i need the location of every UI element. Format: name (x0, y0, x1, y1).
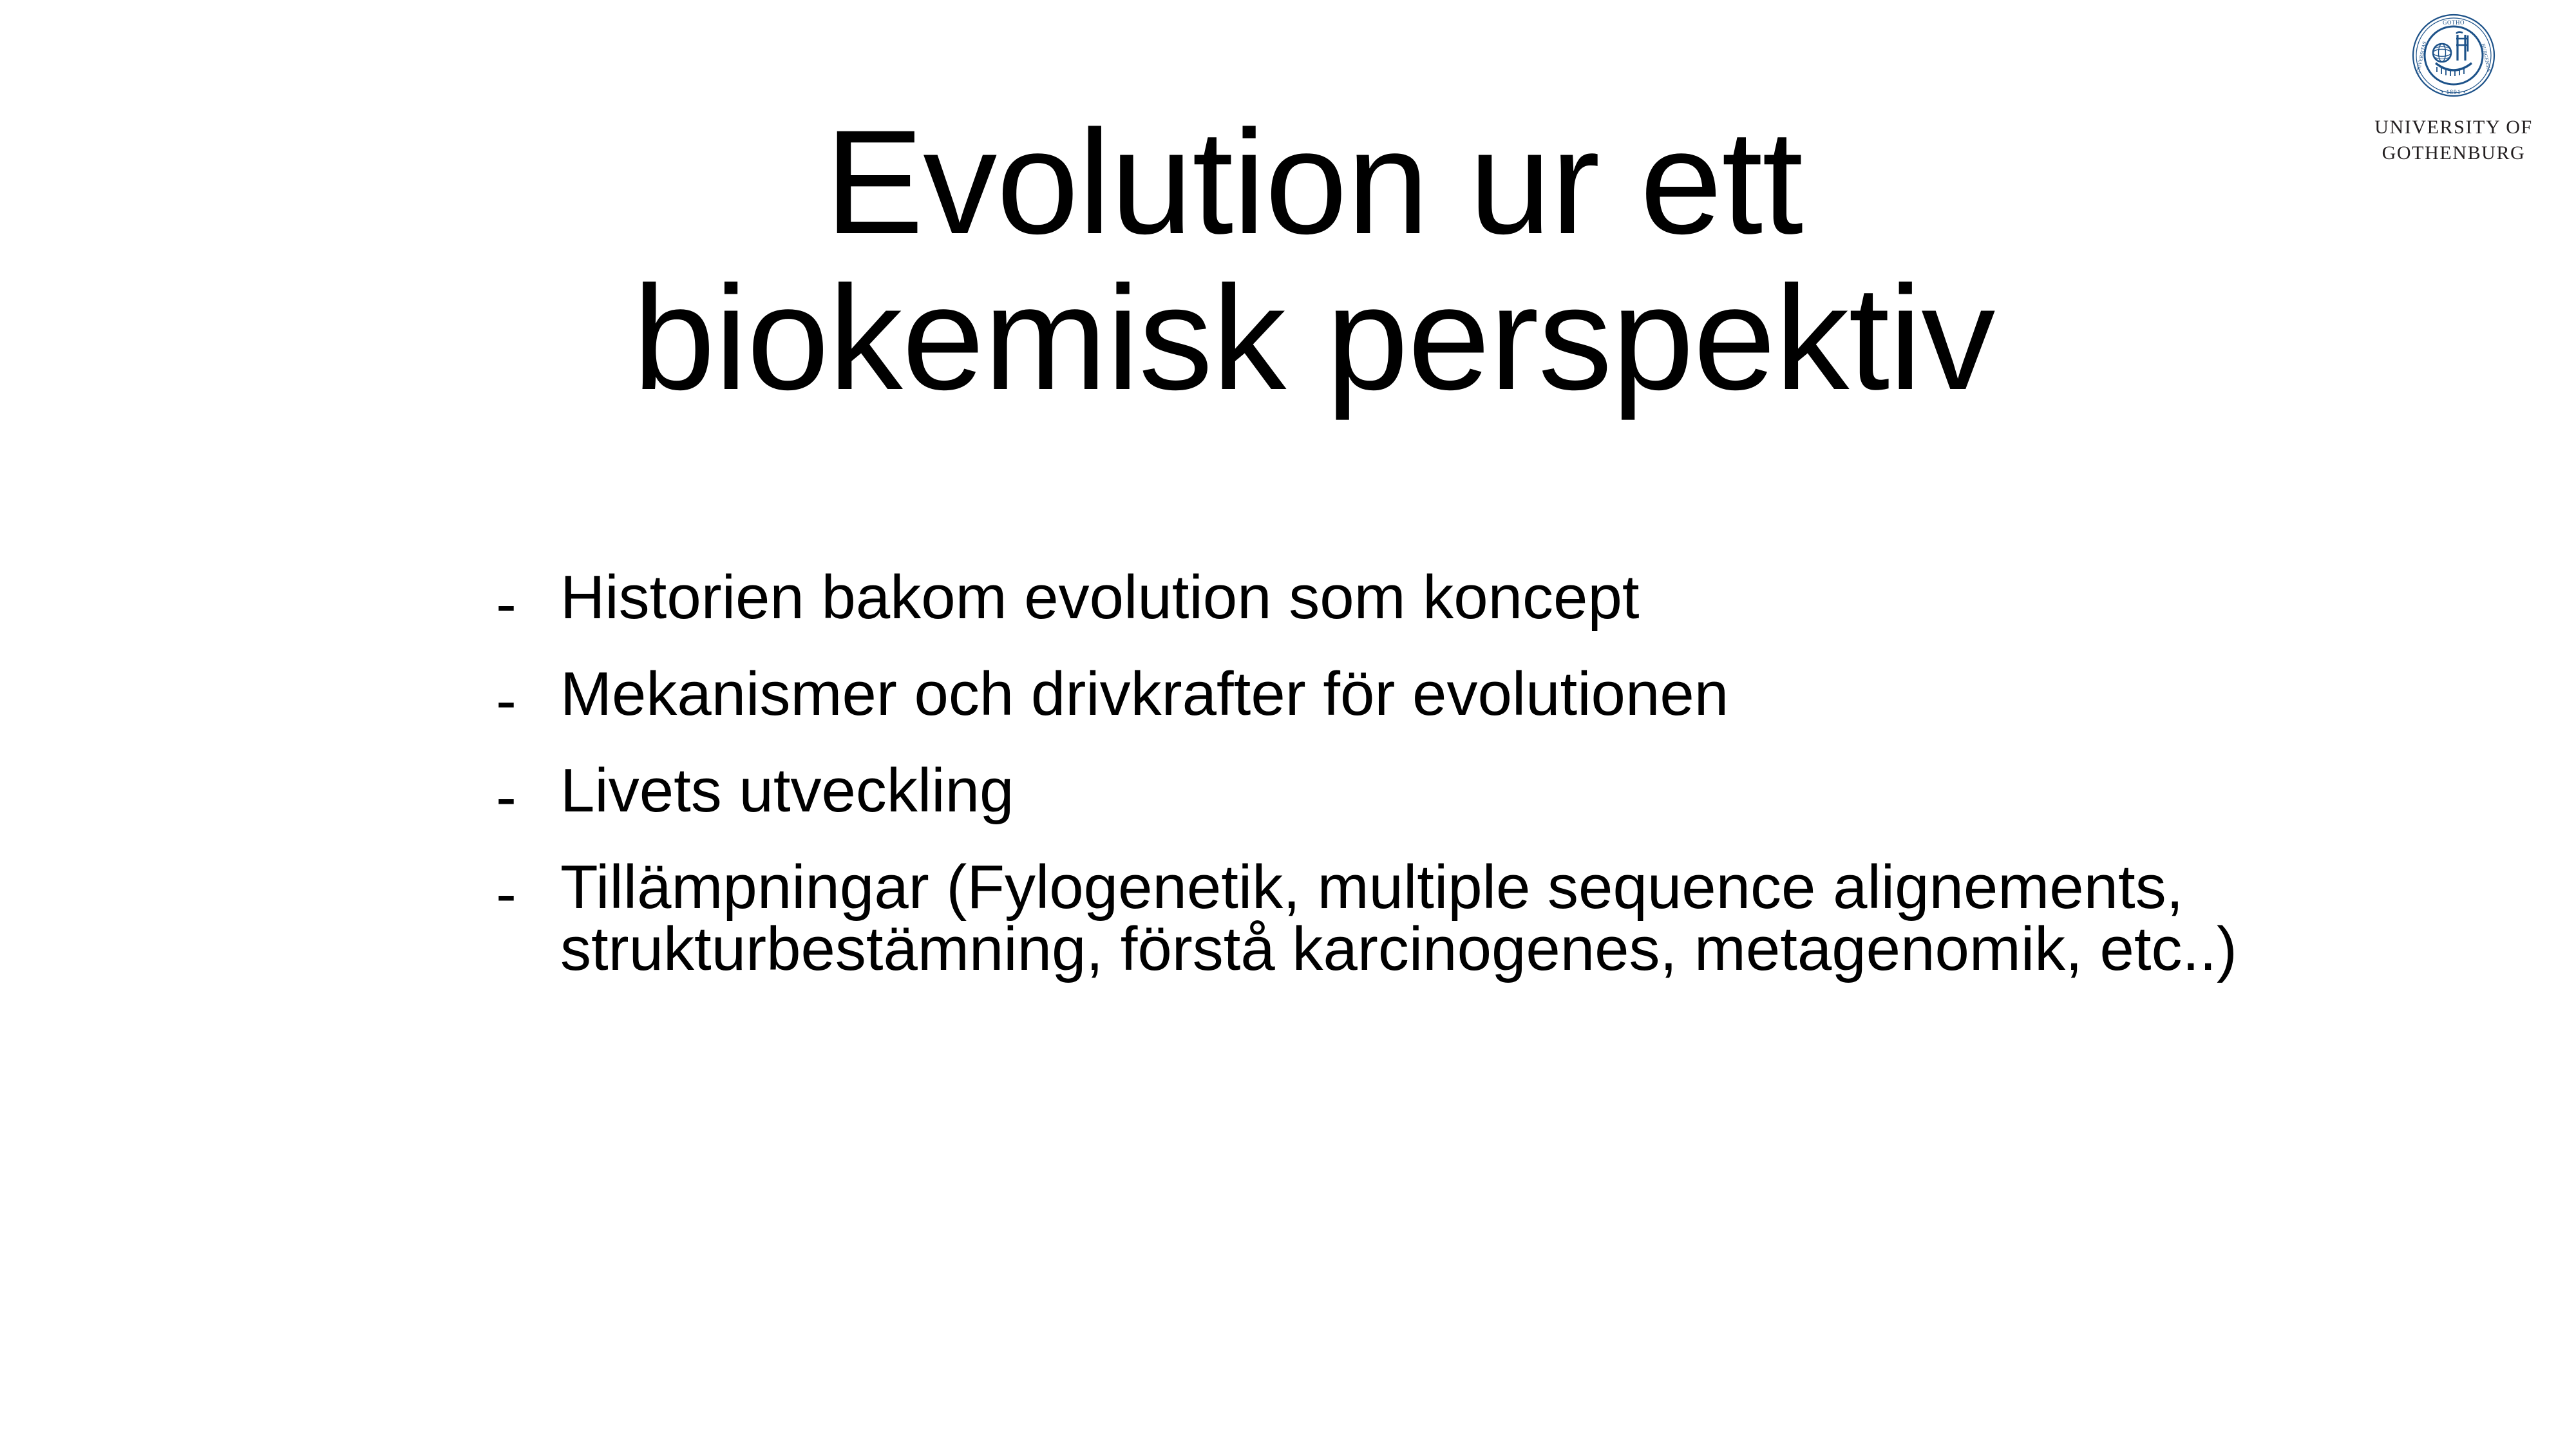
university-of-gothenburg-seal-icon: GOTHO • 1891 • UNIVERSITAS BURGENSIS (2411, 13, 2496, 98)
list-item-label-line-2: strukturbestämning, förstå karcinogenes,… (560, 918, 2363, 980)
svg-text:GOTHO: GOTHO (2443, 19, 2465, 26)
slide-bullet-list: - Historien bakom evolution som koncept … (496, 565, 2363, 980)
list-item-label: Livets utveckling (560, 759, 2363, 822)
list-item: - Mekanismer och drivkrafter för evoluti… (496, 662, 2363, 739)
university-logo: GOTHO • 1891 • UNIVERSITAS BURGENSIS (2344, 13, 2563, 180)
dash-bullet-icon: - (496, 759, 560, 836)
list-item: - Historien bakom evolution som koncept (496, 565, 2363, 643)
list-item-label: Historien bakom evolution som koncept (560, 565, 2363, 629)
slide: GOTHO • 1891 • UNIVERSITAS BURGENSIS (0, 0, 2576, 1449)
slide-title-line-2: biokemisk perspektiv (309, 260, 2318, 416)
dash-bullet-icon: - (496, 855, 560, 933)
list-item: - Tillämpningar (Fylogenetik, multiple s… (496, 855, 2363, 980)
list-item: - Livets utveckling (496, 759, 2363, 836)
list-item-label: Tillämpningar (Fylogenetik, multiple seq… (560, 855, 2363, 980)
svg-text:• 1891 •: • 1891 • (2441, 90, 2466, 96)
list-item-label-line-1: Tillämpningar (Fylogenetik, multiple seq… (560, 853, 2183, 922)
logo-wordmark: UNIVERSITY OF GOTHENBURG (2374, 115, 2533, 166)
dash-bullet-icon: - (496, 662, 560, 739)
list-item-label: Mekanismer och drivkrafter för evolution… (560, 662, 2363, 725)
logo-wordmark-line1: UNIVERSITY OF (2374, 115, 2533, 140)
logo-wordmark-line2: GOTHENBURG (2374, 140, 2533, 166)
slide-title-line-1: Evolution ur ett (309, 104, 2318, 260)
slide-title: Evolution ur ett biokemisk perspektiv (309, 104, 2318, 416)
dash-bullet-icon: - (496, 565, 560, 643)
